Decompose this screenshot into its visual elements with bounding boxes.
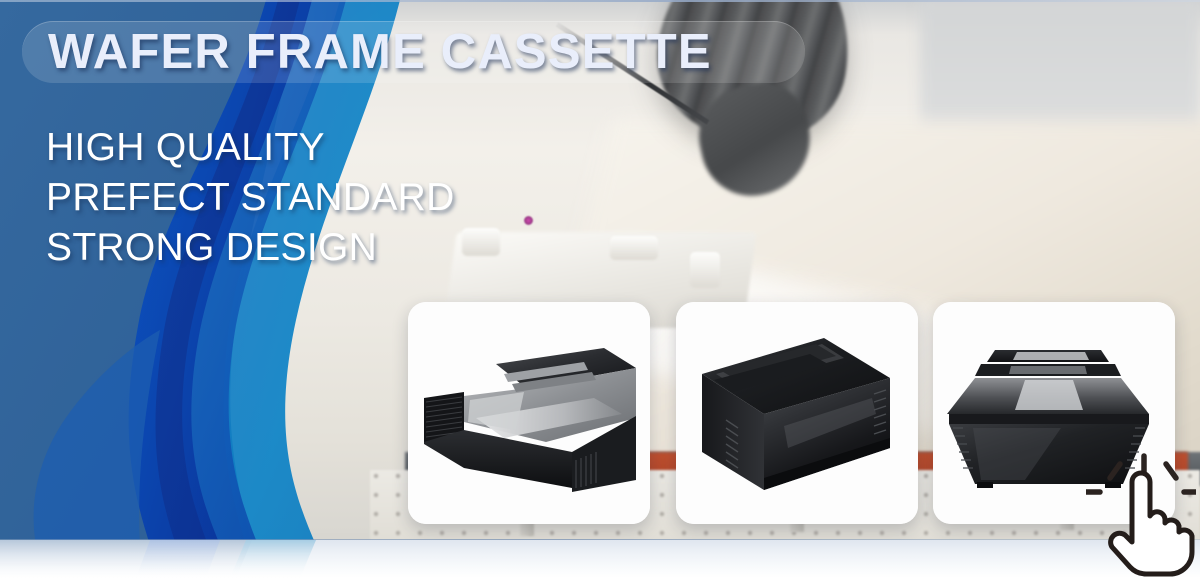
product-card-1[interactable] — [408, 302, 650, 524]
subtitle-block: HIGH QUALITY PREFECT STANDARD STRONG DES… — [46, 123, 455, 273]
wafer-frame-cassette-banner: WAFER FRAME CASSETTE HIGH QUALITY PREFEC… — [0, 0, 1200, 578]
probe-tip-glow — [524, 216, 533, 225]
hand-pointer-click-icon[interactable] — [1086, 448, 1196, 578]
jig-knob-right — [690, 252, 720, 288]
product-card-2[interactable] — [676, 302, 918, 524]
jig-knob-center — [610, 236, 658, 260]
bottom-reflection-wave — [0, 540, 520, 578]
subtitle-line-2: PREFECT STANDARD — [46, 173, 455, 223]
reflection-divider-line — [0, 539, 1200, 540]
page-title: WAFER FRAME CASSETTE — [48, 24, 712, 80]
subtitle-line-1: HIGH QUALITY — [46, 123, 455, 173]
wafer-frame-cassette-angled-open-image — [408, 302, 650, 524]
subtitle-line-3: STRONG DESIGN — [46, 223, 455, 273]
top-divider-line — [0, 0, 1200, 2]
wafer-frame-cassette-three-quarter-image — [676, 302, 918, 524]
